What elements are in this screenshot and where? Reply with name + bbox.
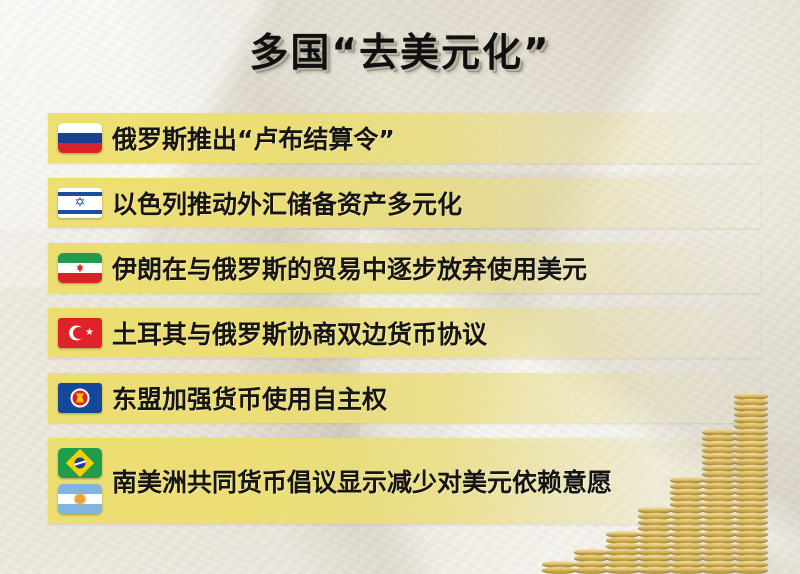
- list-item-south-america: 南美洲共同货币倡议显示减少对美元依赖意愿: [48, 438, 612, 524]
- list-item-label: 伊朗在与俄罗斯的贸易中逐步放弃使用美元: [112, 250, 587, 286]
- coin-stack: [702, 430, 736, 574]
- coin: [574, 567, 608, 574]
- coin-stack: [542, 562, 576, 574]
- coin: [702, 567, 736, 574]
- infographic-canvas: 多国“去美元化” 俄罗斯推出“卢布结算令” ✡ 以色列推动外汇储备资产多元化: [0, 0, 800, 574]
- list-item-israel: ✡ 以色列推动外汇储备资产多元化: [48, 178, 462, 228]
- coin: [734, 567, 768, 574]
- flag-group: ★: [58, 318, 102, 348]
- israel-flag-icon: ✡: [58, 188, 102, 218]
- brazil-flag-icon: [58, 448, 102, 478]
- list-item-label: 东盟加强货币使用自主权: [112, 380, 387, 416]
- iran-flag-icon: [58, 253, 102, 283]
- list-item-label: 以色列推动外汇储备资产多元化: [112, 185, 462, 221]
- list-item-asean: 东盟加强货币使用自主权: [48, 373, 387, 423]
- coin-stack: [670, 478, 704, 574]
- list-item-turkey: ★ 土耳其与俄罗斯协商双边货币协议: [48, 308, 487, 358]
- list-item-iran: 伊朗在与俄罗斯的贸易中逐步放弃使用美元: [48, 243, 587, 293]
- coin-stack: [606, 532, 640, 574]
- flag-group: [58, 253, 102, 283]
- flag-group: ✡: [58, 188, 102, 218]
- turkey-flag-icon: ★: [58, 318, 102, 348]
- list-item-russia: 俄罗斯推出“卢布结算令”: [48, 113, 395, 163]
- flag-group: [58, 448, 102, 514]
- page-title: 多国“去美元化”: [0, 22, 800, 78]
- coin: [542, 567, 576, 574]
- list-item-label: 南美洲共同货币倡议显示减少对美元依赖意愿: [112, 463, 612, 499]
- coin: [638, 567, 672, 574]
- flag-group: [58, 383, 102, 413]
- coin-stack: [638, 508, 672, 574]
- coin-stack: [574, 550, 608, 574]
- coin-stack: [734, 394, 768, 574]
- russia-flag-icon: [58, 123, 102, 153]
- coin: [670, 567, 704, 574]
- list-item-label: 土耳其与俄罗斯协商双边货币协议: [112, 315, 487, 351]
- list-item-label: 俄罗斯推出“卢布结算令”: [112, 120, 395, 156]
- asean-flag-icon: [58, 383, 102, 413]
- flag-group: [58, 123, 102, 153]
- argentina-flag-icon: [58, 484, 102, 514]
- coin: [606, 567, 640, 574]
